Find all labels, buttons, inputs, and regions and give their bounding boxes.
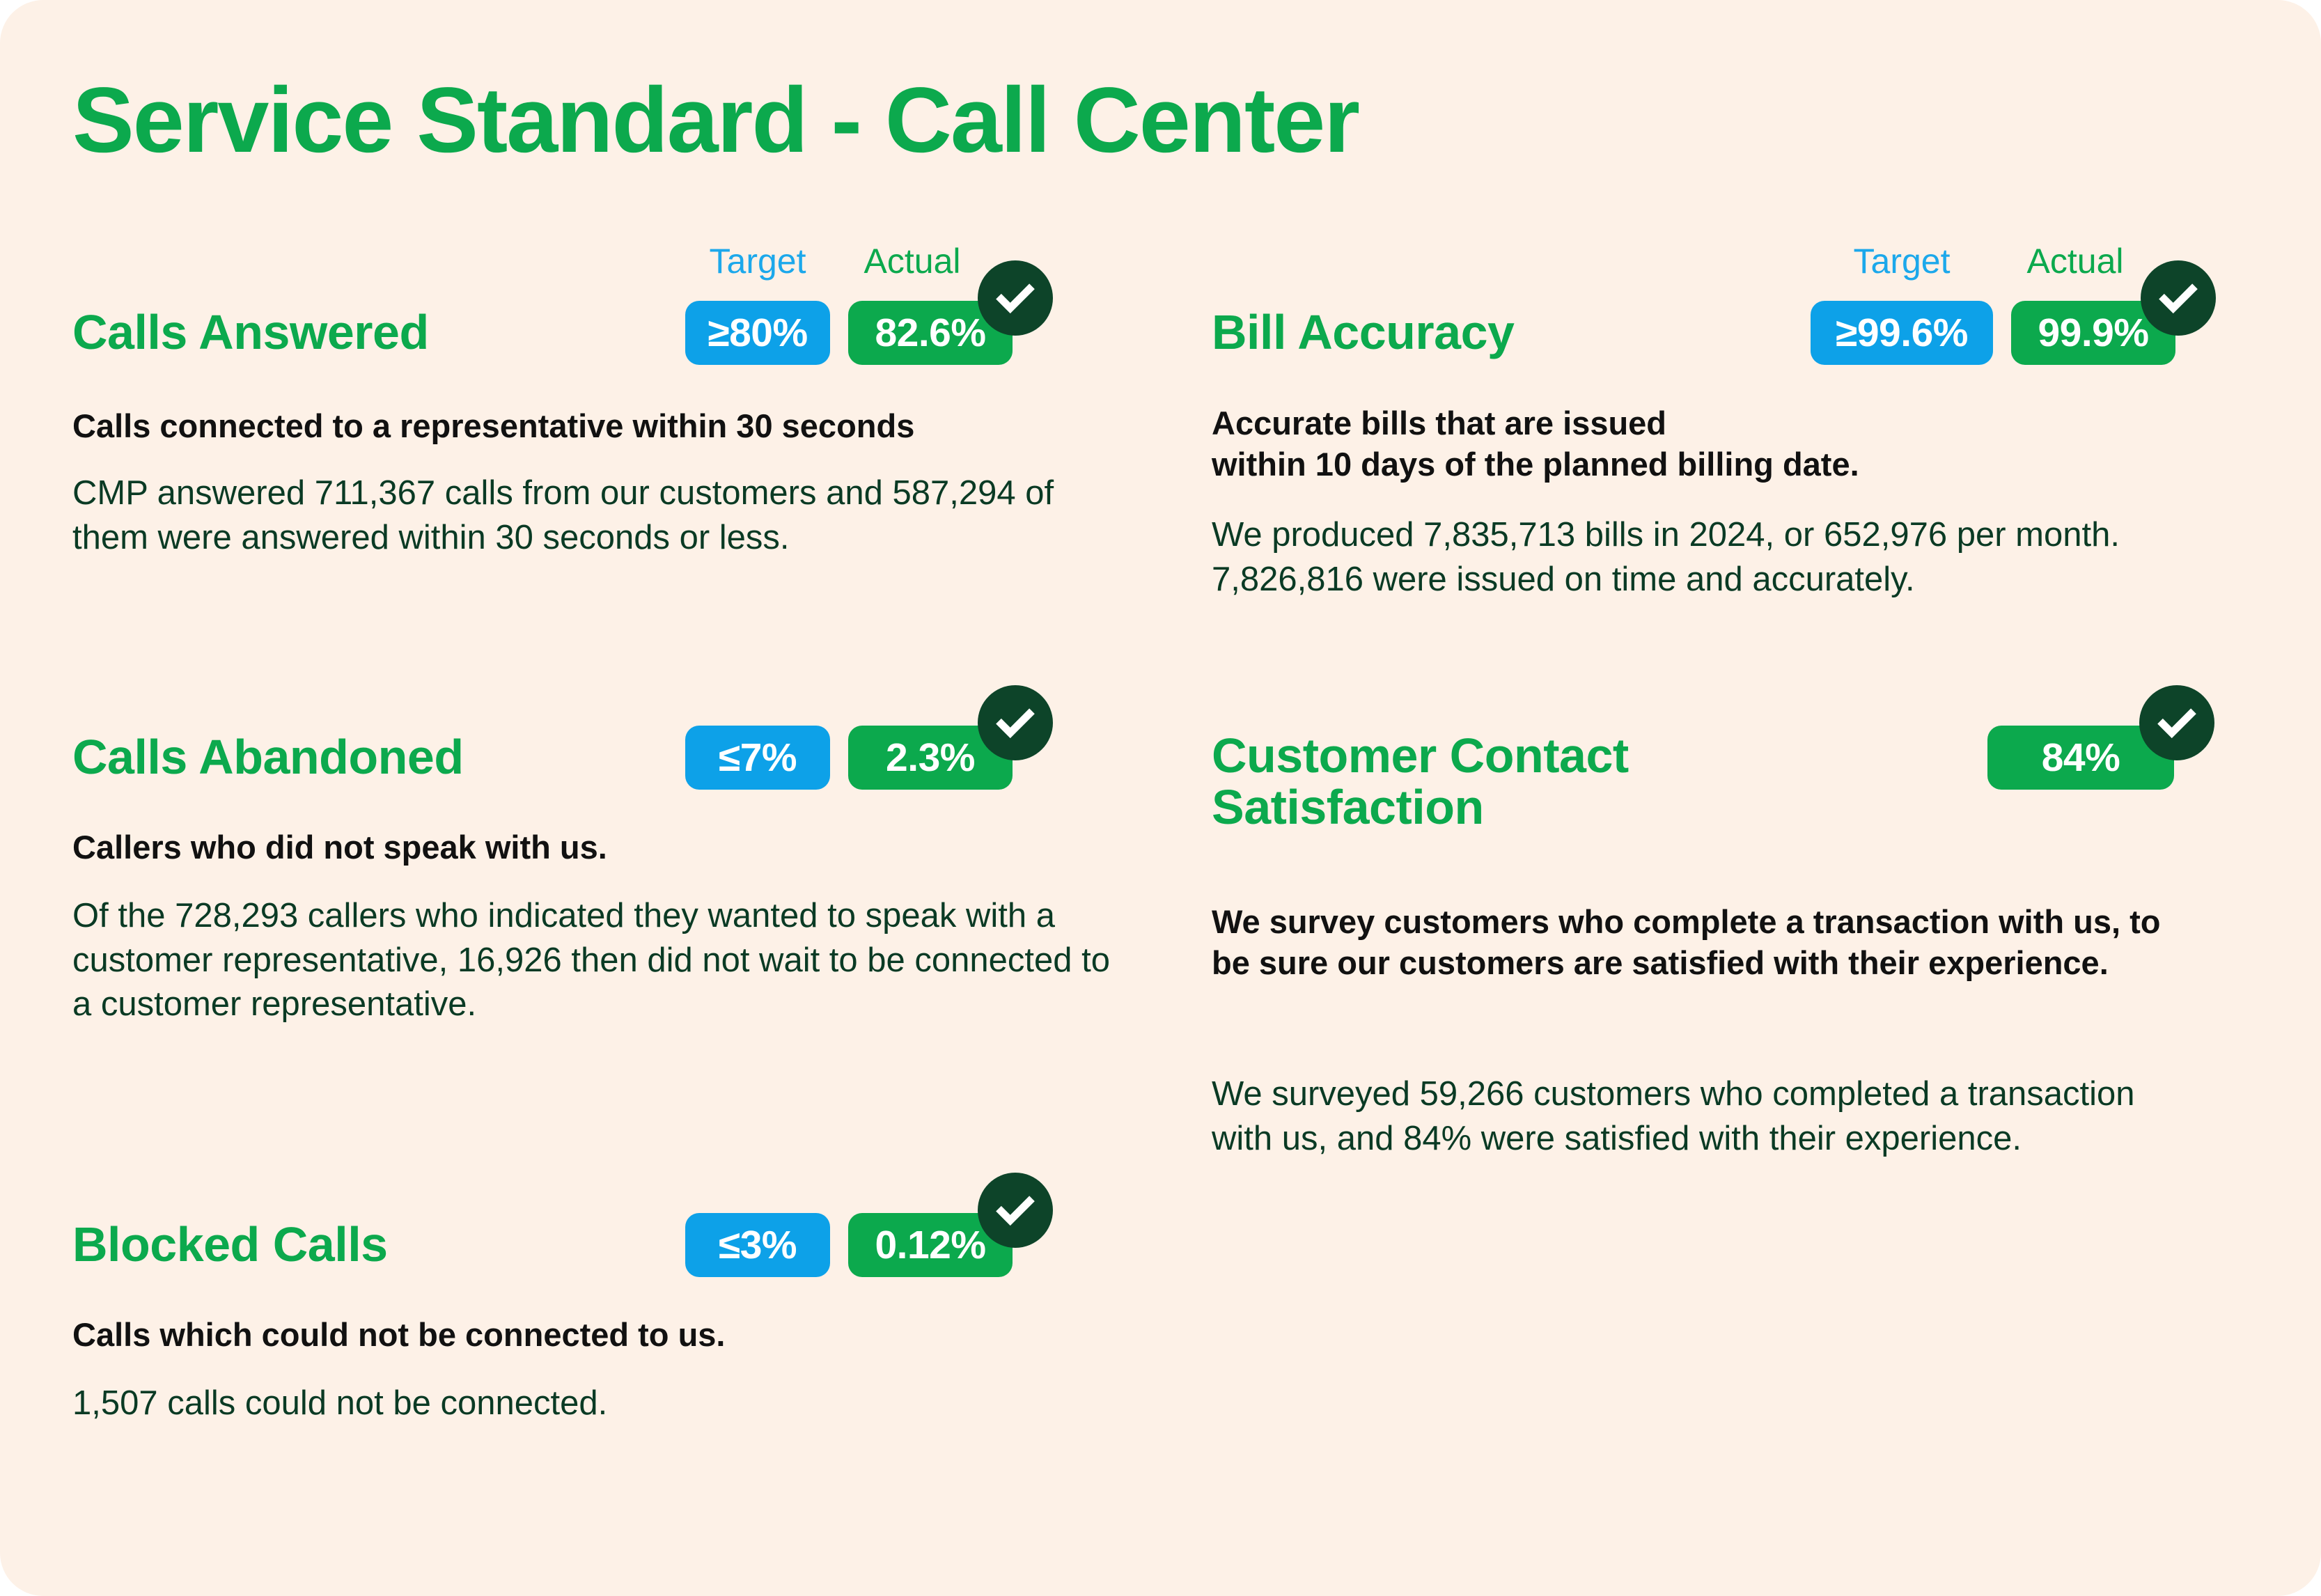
blocked-calls-target-badge: ≤3% xyxy=(685,1213,830,1277)
blocked-calls-actual-badge: 0.12% xyxy=(848,1213,1013,1277)
blocked-calls-badges: ≤3% 0.12% xyxy=(685,1213,1013,1277)
customer-contact-satisfaction-title: Customer Contact Satisfaction xyxy=(1212,730,1629,833)
calls-answered-legend: Target Actual xyxy=(685,244,994,279)
bill-accuracy-actual-badge: 99.9% xyxy=(2011,301,2175,365)
actual-label: Actual xyxy=(830,244,994,279)
metric-calls-abandoned: Calls Abandoned ≤7% 2.3% Callers who did… xyxy=(72,710,1138,1198)
bill-accuracy-body: We produced 7,835,713 bills in 2024, or … xyxy=(1212,513,2249,602)
blocked-calls-body: 1,507 calls could not be connected. xyxy=(72,1382,1131,1426)
bill-accuracy-legend: Target Actual xyxy=(1811,244,2157,279)
check-icon xyxy=(2141,260,2216,336)
calls-abandoned-actual-badge: 2.3% xyxy=(848,726,1013,790)
bill-accuracy-subtitle: Accurate bills that are issued within 10… xyxy=(1212,402,2228,485)
check-icon xyxy=(2139,685,2214,760)
bill-accuracy-title: Bill Accuracy xyxy=(1212,306,1514,358)
infographic-card: Service Standard - Call Center Target Ac… xyxy=(0,0,2321,1596)
customer-contact-satisfaction-actual-value: 84% xyxy=(2042,735,2120,781)
check-icon xyxy=(978,260,1053,336)
calls-abandoned-actual-value: 2.3% xyxy=(886,735,975,781)
bill-accuracy-target-badge: ≥99.6% xyxy=(1811,301,1993,365)
calls-answered-actual-badge: 82.6% xyxy=(848,301,1013,365)
calls-answered-body: CMP answered 711,367 calls from our cust… xyxy=(72,471,1124,560)
target-label: Target xyxy=(685,244,830,279)
blocked-calls-title: Blocked Calls xyxy=(72,1219,388,1270)
customer-contact-satisfaction-actual-badge: 84% xyxy=(1987,726,2174,790)
actual-label: Actual xyxy=(1993,244,2157,279)
customer-contact-satisfaction-subtitle: We survey customers who complete a trans… xyxy=(1212,901,2207,983)
calls-abandoned-body: Of the 728,293 callers who indicated the… xyxy=(72,894,1131,1027)
calls-answered-actual-value: 82.6% xyxy=(875,310,985,356)
calls-abandoned-badges: ≤7% 2.3% xyxy=(685,726,1013,790)
calls-answered-subtitle: Calls connected to a representative with… xyxy=(72,405,1131,446)
check-icon xyxy=(978,685,1053,760)
customer-contact-satisfaction-badges: 84% xyxy=(1987,726,2174,790)
calls-answered-badges: ≥80% 82.6% xyxy=(685,301,1013,365)
calls-answered-target-badge: ≥80% xyxy=(685,301,830,365)
right-column: Target Actual Bill Accuracy ≥99.6% 99.9%… xyxy=(1212,251,2256,1337)
check-icon xyxy=(978,1173,1053,1248)
calls-abandoned-subtitle: Callers who did not speak with us. xyxy=(72,827,1131,868)
calls-abandoned-title: Calls Abandoned xyxy=(72,731,464,783)
metric-calls-answered: Target Actual Calls Answered ≥80% 82.6% … xyxy=(72,251,1138,710)
bill-accuracy-badges: ≥99.6% 99.9% xyxy=(1811,301,2175,365)
page-title: Service Standard - Call Center xyxy=(72,72,1359,170)
customer-contact-satisfaction-body: We surveyed 59,266 customers who complet… xyxy=(1212,1072,2201,1161)
calls-answered-title: Calls Answered xyxy=(72,306,429,358)
metric-blocked-calls: Blocked Calls ≤3% 0.12% Calls which coul… xyxy=(72,1198,1138,1476)
target-label: Target xyxy=(1811,244,1993,279)
calls-abandoned-target-badge: ≤7% xyxy=(685,726,830,790)
left-column: Target Actual Calls Answered ≥80% 82.6% … xyxy=(72,251,1138,1476)
metric-bill-accuracy: Target Actual Bill Accuracy ≥99.6% 99.9%… xyxy=(1212,251,2256,710)
blocked-calls-subtitle: Calls which could not be connected to us… xyxy=(72,1314,1131,1355)
metric-customer-contact-satisfaction: Customer Contact Satisfaction 84% We sur… xyxy=(1212,710,2256,1337)
blocked-calls-actual-value: 0.12% xyxy=(875,1222,985,1268)
bill-accuracy-actual-value: 99.9% xyxy=(2038,310,2148,356)
